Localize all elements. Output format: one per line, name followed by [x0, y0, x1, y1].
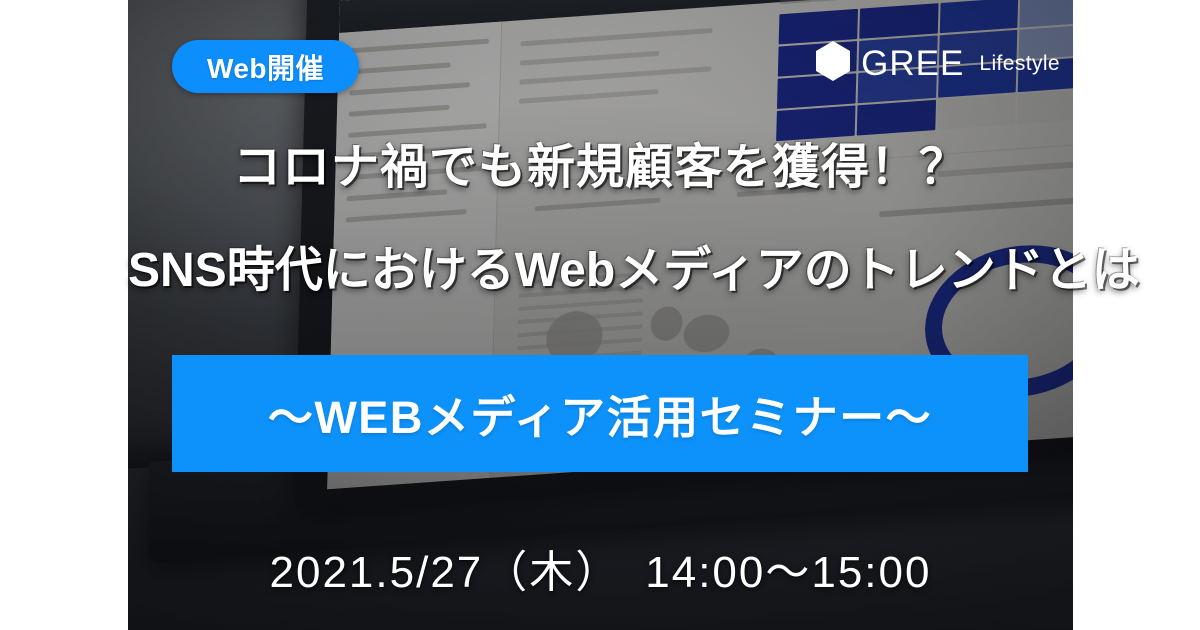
brand-logo: GREE Lifestyle: [814, 40, 1060, 87]
hexagon-logo-icon: [814, 40, 852, 87]
subtitle-band: 〜WEBメディア活用セミナー〜: [172, 355, 1028, 472]
seminar-poster: Web開催 GREE Lifestyle コロナ禍でも新規顧客を獲得！？ SNS…: [0, 0, 1200, 630]
event-datetime-text: 2021.5/27（木） 14:00〜15:00: [270, 548, 932, 597]
brand-logo-sub: Lifestyle: [979, 53, 1060, 74]
web-event-badge-label: Web開催: [207, 47, 324, 87]
brand-logo-name: GREE: [861, 46, 964, 81]
event-datetime: 2021.5/27（木） 14:00〜15:00: [128, 536, 1073, 600]
headline: コロナ禍でも新規顧客を獲得！？ SNS時代におけるWebメディアのトレンドとは: [128, 140, 1073, 299]
web-event-badge: Web開催: [172, 40, 359, 93]
poster-content: Web開催 GREE Lifestyle コロナ禍でも新規顧客を獲得！？ SNS…: [0, 0, 1200, 630]
subtitle-text: 〜WEBメディア活用セミナー〜: [268, 381, 932, 446]
headline-line-1: コロナ禍でも新規顧客を獲得！？: [128, 140, 1073, 197]
headline-line-2: SNS時代におけるWebメディアのトレンドとは: [128, 243, 1073, 300]
